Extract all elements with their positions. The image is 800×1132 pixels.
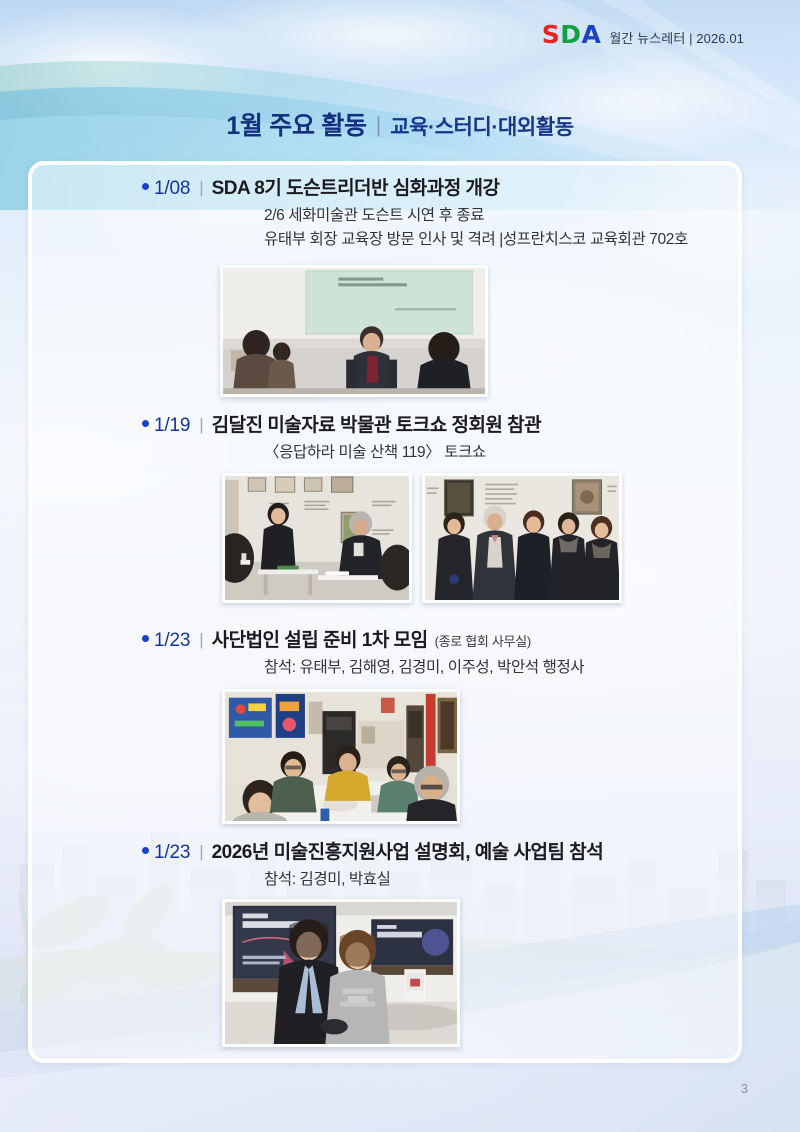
entry-body: 참석: 김경미, 박효실 xyxy=(32,868,738,892)
photo-lecture-hall-image xyxy=(223,268,485,394)
photo-briefing[interactable] xyxy=(222,899,460,1047)
photo-briefing-image xyxy=(225,902,457,1044)
content-card: 1/08 | SDA 8기 도슨트리더반 심화과정 개강 2/6 세화미술관 도… xyxy=(28,161,742,1063)
photo-meeting[interactable] xyxy=(222,689,460,824)
entry-line: 〈응답하라 미술 산책 119〉 토크쇼 xyxy=(264,441,738,465)
entry-separator: | xyxy=(199,630,203,650)
entry-header: 1/19 | 김달진 미술자료 박물관 토크쇼 정회원 참관 xyxy=(32,410,738,437)
page-title: 1월 주요 활동|교육·스터디·대외활동 xyxy=(0,106,800,142)
logo-letter-d: D xyxy=(560,20,581,49)
entry-header: 1/08 | SDA 8기 도슨트리더반 심화과정 개강 xyxy=(32,173,738,200)
page-title-divider: | xyxy=(376,114,381,137)
entry-photos xyxy=(220,265,488,397)
entry-title: 사단법인 설립 준비 1차 모임 xyxy=(212,625,428,652)
entry-photos xyxy=(222,899,460,1047)
bullet-icon xyxy=(142,183,149,190)
entry-date: 1/08 xyxy=(154,178,190,200)
entry-date: 1/23 xyxy=(154,842,190,864)
photo-group-image xyxy=(425,476,619,600)
entry-date: 1/23 xyxy=(154,630,190,652)
entry-line: 참석: 유태부, 김해영, 김경미, 이주성, 박안석 행정사 xyxy=(264,656,738,680)
sda-logo: SDA xyxy=(542,22,602,47)
logo-letter-s: S xyxy=(542,20,561,49)
entry-body: 참석: 유태부, 김해영, 김경미, 이주성, 박안석 행정사 xyxy=(32,656,738,680)
photo-talkshow-image xyxy=(225,476,409,600)
bullet-icon xyxy=(142,635,149,642)
entry-photos xyxy=(222,473,622,603)
masthead-subtitle: 월간 뉴스레터 | 2026.01 xyxy=(609,28,744,47)
page-title-sub: 교육·스터디·대외활동 xyxy=(390,116,573,139)
entry-line: 유태부 회장 교육장 방문 인사 및 격려 |성프란치스코 교육회관 702호 xyxy=(264,228,738,252)
masthead: SDA 월간 뉴스레터 | 2026.01 xyxy=(542,22,744,47)
entry-line: 참석: 김경미, 박효실 xyxy=(264,868,738,892)
photo-meeting-image xyxy=(225,692,457,821)
logo-letter-a: A xyxy=(581,20,601,49)
entry-title: SDA 8기 도슨트리더반 심화과정 개강 xyxy=(212,173,500,200)
list-item[interactable]: 1/23 | 2026년 미술진흥지원사업 설명회, 예술 사업팀 참석 참석:… xyxy=(32,837,738,892)
entry-title: 김달진 미술자료 박물관 토크쇼 정회원 참관 xyxy=(212,410,542,437)
entry-line: 2/6 세화미술관 도슨트 시연 후 종료 xyxy=(264,204,738,228)
bullet-icon xyxy=(142,847,149,854)
page-number: 3 xyxy=(741,1081,748,1096)
entry-title: 2026년 미술진흥지원사업 설명회, 예술 사업팀 참석 xyxy=(212,837,604,864)
entry-separator: | xyxy=(199,842,203,862)
newsletter-page: SDA 월간 뉴스레터 | 2026.01 1월 주요 활동|교육·스터디·대외… xyxy=(0,0,800,1132)
entry-separator: | xyxy=(199,178,203,198)
bullet-icon xyxy=(142,420,149,427)
entry-body: 〈응답하라 미술 산책 119〉 토크쇼 xyxy=(32,441,738,465)
entry-header: 1/23 | 2026년 미술진흥지원사업 설명회, 예술 사업팀 참석 xyxy=(32,837,738,864)
entry-photos xyxy=(222,689,460,824)
entry-note: (종로 협회 사무실) xyxy=(435,631,531,650)
entry-date: 1/19 xyxy=(154,415,190,437)
list-item[interactable]: 1/08 | SDA 8기 도슨트리더반 심화과정 개강 2/6 세화미술관 도… xyxy=(32,173,738,251)
list-item[interactable]: 1/23 | 사단법인 설립 준비 1차 모임 (종로 협회 사무실) 참석: … xyxy=(32,625,738,680)
entry-body: 2/6 세화미술관 도슨트 시연 후 종료 유태부 회장 교육장 방문 인사 및… xyxy=(32,204,738,251)
photo-lecture-hall[interactable] xyxy=(220,265,488,397)
photo-talkshow[interactable] xyxy=(222,473,412,603)
entry-header: 1/23 | 사단법인 설립 준비 1차 모임 (종로 협회 사무실) xyxy=(32,625,738,652)
list-item[interactable]: 1/19 | 김달진 미술자료 박물관 토크쇼 정회원 참관 〈응답하라 미술 … xyxy=(32,410,738,465)
photo-group[interactable] xyxy=(422,473,622,603)
page-title-main: 1월 주요 활동 xyxy=(226,112,366,140)
activity-list: 1/08 | SDA 8기 도슨트리더반 심화과정 개강 2/6 세화미술관 도… xyxy=(32,165,738,1059)
entry-separator: | xyxy=(199,415,203,435)
